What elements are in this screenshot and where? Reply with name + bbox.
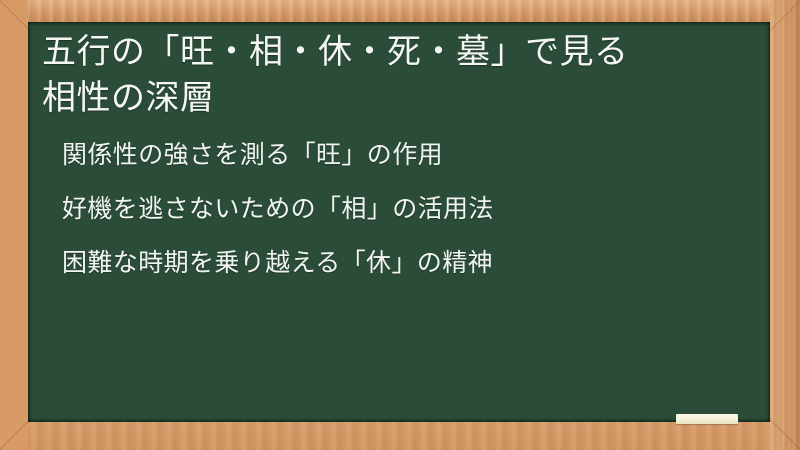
list-item: 関係性の強さを測る「旺」の作用 (62, 143, 752, 168)
frame-rail-left (0, 0, 28, 450)
list-item: 困難な時期を乗り越える「休」の精神 (62, 251, 752, 276)
list-item: 好機を逃さないための「相」の活用法 (62, 197, 752, 222)
slide-title: 五行の「旺・相・休・死・墓」で見る 相性の深層 (36, 30, 752, 121)
chalk-stick-icon (676, 414, 738, 424)
bullet-list: 関係性の強さを測る「旺」の作用 好機を逃さないための「相」の活用法 困難な時期を… (36, 143, 752, 276)
chalkboard: 五行の「旺・相・休・死・墓」で見る 相性の深層 関係性の強さを測る「旺」の作用 … (28, 22, 770, 422)
chalkboard-content: 五行の「旺・相・休・死・墓」で見る 相性の深層 関係性の強さを測る「旺」の作用 … (28, 22, 770, 422)
frame-rail-right (770, 0, 800, 450)
frame-rail-top (0, 0, 800, 22)
frame-rail-bottom (0, 422, 800, 450)
slide-canvas: 五行の「旺・相・休・死・墓」で見る 相性の深層 関係性の強さを測る「旺」の作用 … (0, 0, 800, 450)
